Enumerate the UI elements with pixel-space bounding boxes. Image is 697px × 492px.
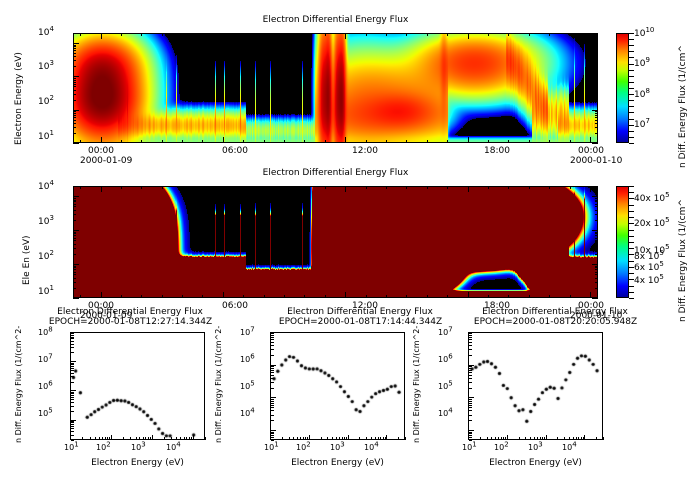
s3-ylabel: n Diff. Energy Flux (1/(cm^2- [412, 326, 421, 443]
axis-tick [629, 192, 634, 193]
s2-xtick-0: 101 [264, 443, 279, 452]
top-xtick-2: 12:00 [352, 146, 378, 156]
axis-tick [629, 298, 634, 299]
top-ytick-3: 103 [38, 62, 54, 72]
top-ytick-4: 104 [38, 28, 54, 38]
s1-xtick-2: 103 [131, 443, 146, 452]
mid-cbar-tick-1: 20x 105 [634, 219, 670, 229]
s3-ytick-1: 106 [438, 355, 453, 364]
top-panel-title: Electron Differential Energy Flux [73, 15, 598, 25]
mid-ytick-3: 103 [38, 217, 54, 227]
axis-tick [629, 82, 634, 83]
top-colorbar [616, 33, 629, 143]
mid-cbar-tick-5: 4x 105 [634, 276, 664, 286]
top-xtick-3: 18:00 [484, 146, 510, 156]
s1-xtick-3: 104 [166, 443, 181, 452]
top-xdate-left: 2000-01-09 [80, 156, 132, 166]
s1-xtick-0: 101 [64, 443, 79, 452]
mid-ytick-2: 102 [38, 252, 54, 262]
axis-tick [629, 273, 634, 274]
mid-spectrogram [73, 186, 598, 298]
top-ytick-1: 101 [38, 132, 54, 142]
s3-xtick-0: 101 [462, 443, 477, 452]
mid-colorbar [616, 186, 629, 298]
axis-tick [629, 286, 634, 287]
plot-page: Electron Differential Energy Flux Electr… [0, 0, 697, 492]
s3-plot-area [468, 332, 603, 440]
axis-tick [629, 51, 634, 52]
s1-ytick-2: 106 [38, 382, 53, 391]
s3-ytick-2: 105 [438, 382, 453, 391]
top-xtick-0: 00:00 [88, 146, 114, 156]
s3-title: Electron Differential Energy Flux [455, 307, 655, 317]
axis-tick [629, 131, 634, 132]
s2-ytick-0: 107 [240, 328, 255, 337]
axis-tick [629, 236, 634, 237]
axis-tick [629, 106, 634, 107]
top-cbar-tick-2: 108 [634, 90, 650, 100]
axis-tick [629, 205, 634, 206]
s1-ytick-3: 105 [38, 409, 53, 418]
axis-tick [629, 70, 634, 71]
mid-cbar-tick-4: 6x 105 [634, 263, 664, 273]
axis-tick [629, 230, 634, 231]
s2-xtick-1: 102 [296, 443, 311, 452]
s1-xlabel: Electron Energy (eV) [70, 458, 205, 468]
s3-ytick-0: 107 [438, 328, 453, 337]
axis-tick [629, 137, 634, 138]
top-cbar-tick-3: 107 [634, 120, 650, 130]
axis-tick [629, 39, 634, 40]
top-cbar-tick-1: 109 [634, 59, 650, 69]
s2-ylabel: n Diff. Energy Flux (1/(cm^2- [214, 326, 223, 443]
axis-tick [629, 100, 634, 101]
axis-tick [629, 211, 634, 212]
top-xtick-1: 06:00 [222, 146, 248, 156]
s3-subtitle: EPOCH=2000-01-08T20:20:05.948Z [453, 317, 658, 327]
s1-ytick-1: 107 [38, 355, 53, 364]
s2-subtitle: EPOCH=2000-01-08T17:14:44.344Z [258, 317, 463, 327]
s3-ytick-3: 104 [438, 409, 453, 418]
s1-plot-area [70, 332, 205, 440]
top-spectrogram [73, 33, 598, 143]
axis-tick [592, 143, 598, 144]
s1-subtitle: EPOCH=2000-01-08T12:27:14.344Z [28, 317, 233, 327]
top-ylabel: Electron Energy (eV) [14, 52, 24, 145]
top-xtick-4: 00:00 [578, 146, 604, 156]
s2-ytick-2: 105 [240, 382, 255, 391]
axis-tick [629, 217, 634, 218]
s3-xtick-3: 104 [562, 443, 577, 452]
axis-tick [592, 298, 598, 299]
axis-tick [73, 298, 79, 299]
s2-xlabel: Electron Energy (eV) [270, 458, 405, 468]
mid-ytick-4: 104 [38, 182, 54, 192]
s1-ylabel: n Diff. Energy Flux (1/(cm^2- [14, 326, 23, 443]
s2-plot-area [270, 332, 405, 440]
axis-tick [629, 292, 634, 293]
axis-tick [629, 76, 634, 77]
s1-title: Electron Differential Energy Flux [30, 307, 230, 317]
s3-xtick-2: 103 [528, 443, 543, 452]
s2-title: Electron Differential Energy Flux [260, 307, 460, 317]
s3-xlabel: Electron Energy (eV) [468, 458, 603, 468]
axis-tick [629, 57, 634, 58]
axis-tick [629, 112, 634, 113]
s2-xtick-2: 103 [330, 443, 345, 452]
axis-tick [629, 143, 634, 144]
s3-xtick-1: 102 [494, 443, 509, 452]
mid-ylabel: Ele En (eV) [22, 235, 32, 285]
mid-colorbar-label: n Diff. Energy Flux (1/(cm^ [678, 199, 688, 322]
s1-ytick-0: 108 [38, 328, 53, 337]
s2-ytick-3: 104 [240, 409, 255, 418]
top-colorbar-label: n Diff. Energy Flux (1/(cm^ [678, 45, 688, 168]
mid-panel-title: Electron Differential Energy Flux [73, 168, 598, 178]
s2-ytick-1: 106 [240, 355, 255, 364]
axis-tick [629, 88, 634, 89]
mid-cbar-tick-0: 40x 105 [634, 194, 670, 204]
mid-ytick-1: 101 [38, 287, 54, 297]
top-cbar-tick-0: 1010 [634, 29, 654, 39]
s1-xtick-1: 102 [96, 443, 111, 452]
s2-xtick-3: 104 [364, 443, 379, 452]
axis-tick [629, 186, 634, 187]
top-xdate-right: 2000-01-10 [570, 156, 622, 166]
axis-tick [73, 143, 79, 144]
top-ytick-2: 102 [38, 97, 54, 107]
axis-tick [629, 242, 634, 243]
axis-tick [629, 45, 634, 46]
